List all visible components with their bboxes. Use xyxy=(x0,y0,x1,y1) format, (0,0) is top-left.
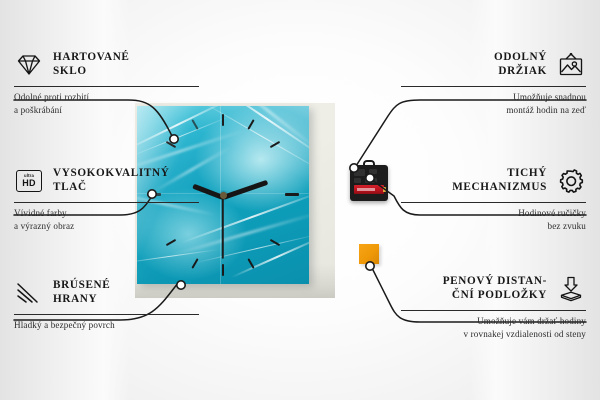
clock-tick xyxy=(285,193,299,196)
clock-tick xyxy=(247,119,254,130)
feature-desc-line1: Umožňuje snadnou xyxy=(513,92,586,102)
feature-desc-line2: v rovnakej vzdialenosti od steny xyxy=(464,329,587,339)
mechanism-detail xyxy=(365,178,377,183)
feature-divider xyxy=(14,86,199,87)
feature-silent-mechanism[interactable]: TICHÝ MECHANIZMUS Hodinové ručičky bez z… xyxy=(401,164,586,232)
feature-description: Hodinové ručičky bez zvuku xyxy=(401,207,586,232)
clock-tick xyxy=(191,258,198,269)
feather-stroke xyxy=(231,236,309,279)
feature-title-line1: TICHÝ xyxy=(507,167,547,179)
diamond-icon xyxy=(14,51,44,79)
battery-positive-terminal xyxy=(383,187,386,192)
clock-tick xyxy=(222,264,224,276)
mechanism-detail xyxy=(354,178,361,183)
gear-icon xyxy=(556,167,586,195)
feature-title-line2: ČNÍ PODLOŽKY xyxy=(452,289,547,301)
feature-divider xyxy=(401,310,586,311)
feature-title: TICHÝ MECHANIZMUS xyxy=(452,167,547,194)
feature-divider xyxy=(14,202,199,203)
feature-desc-line1: Hodinové ručičky xyxy=(518,208,586,218)
battery-label-stripe xyxy=(357,188,375,191)
clock-minute-hand xyxy=(222,180,268,200)
feature-description: Odolné proti rozbití a poškrábání xyxy=(14,91,199,116)
diagonal-lines-icon xyxy=(14,279,44,307)
feature-title-line2: MECHANIZMUS xyxy=(452,181,547,193)
feature-title-line2: TLAČ xyxy=(53,181,87,193)
feature-desc-line1: Vívidné farby xyxy=(14,208,67,218)
feature-description: Hladký a bezpečný povrch xyxy=(14,319,199,332)
feature-title-line2: DRŽIAK xyxy=(498,65,547,77)
clock-tick xyxy=(166,141,177,148)
feature-title-line1: HARTOVANÉ xyxy=(53,51,130,63)
feature-divider xyxy=(401,202,586,203)
feature-description: Umožňuje snadnou montáž hodin na zeď xyxy=(401,91,586,116)
feature-polished-edges[interactable]: BRÚSENÉ HRANY Hladký a bezpečný povrch xyxy=(14,276,199,332)
feature-title-line2: HRANY xyxy=(53,293,97,305)
clock-tick xyxy=(222,114,224,126)
feature-desc-line2: a poškrábání xyxy=(14,105,62,115)
feature-title-line1: VYSOKOKVALITNÝ xyxy=(53,167,169,179)
clock-hand-cap xyxy=(220,192,227,199)
feature-desc-line1: Odolné proti rozbití xyxy=(14,92,89,102)
feature-description: Umožňuje vám držať hodiny v rovnakej vzd… xyxy=(401,315,586,340)
feature-divider xyxy=(401,86,586,87)
mechanism-detail xyxy=(369,169,377,174)
feature-title: HARTOVANÉ SKLO xyxy=(53,51,130,78)
feature-title-line1: PENOVÝ DISTAN- xyxy=(443,275,547,287)
feather-stroke xyxy=(221,106,309,150)
feature-title: PENOVÝ DISTAN- ČNÍ PODLOŽKY xyxy=(443,275,547,302)
feature-desc-line1: Umožňuje vám držať hodiny xyxy=(477,316,586,326)
feature-title: BRÚSENÉ HRANY xyxy=(53,279,110,306)
feature-divider xyxy=(14,314,199,315)
battery xyxy=(354,185,384,194)
feature-desc-line2: a výrazný obraz xyxy=(14,221,74,231)
feature-title: VYSOKOKVALITNÝ TLAČ xyxy=(53,167,169,194)
clock-mechanism xyxy=(350,165,388,201)
clock-tick xyxy=(191,119,198,130)
feature-desc-line1: Hladký a bezpečný povrch xyxy=(14,320,115,330)
feature-foam-spacers[interactable]: PENOVÝ DISTAN- ČNÍ PODLOŽKY Umožňuje vám… xyxy=(401,272,586,340)
foam-spacer-pad xyxy=(359,244,379,264)
press-down-pad-icon xyxy=(556,275,586,303)
feature-desc-line2: bez zvuku xyxy=(548,221,586,231)
feature-durable-hanger[interactable]: ODOLNÝ DRŽIAK Umožňuje snadnou montáž ho… xyxy=(401,48,586,116)
feature-header: TICHÝ MECHANIZMUS xyxy=(401,164,586,198)
feature-header: ODOLNÝ DRŽIAK xyxy=(401,48,586,82)
feature-header: PENOVÝ DISTAN- ČNÍ PODLOŽKY xyxy=(401,272,586,306)
feature-header: BRÚSENÉ HRANY xyxy=(14,276,199,310)
feature-title-line2: SKLO xyxy=(53,65,87,77)
feature-title-line1: BRÚSENÉ xyxy=(53,279,110,291)
feature-description: Vívidné farby a výrazný obraz xyxy=(14,207,199,232)
ultra-hd-icon-main-text: HD xyxy=(22,179,35,188)
clock-second-hand xyxy=(222,197,224,259)
feature-desc-line2: montáž hodin na zeď xyxy=(506,105,586,115)
feature-tempered-glass[interactable]: HARTOVANÉ SKLO Odolné proti rozbití a po… xyxy=(14,48,199,116)
clock-tick xyxy=(166,239,177,246)
feature-header: ultra HD VYSOKOKVALITNÝ TLAČ xyxy=(14,164,199,198)
feature-high-quality-print[interactable]: ultra HD VYSOKOKVALITNÝ TLAČ Vívidné far… xyxy=(14,164,199,232)
hanging-picture-icon xyxy=(556,51,586,79)
feature-header: HARTOVANÉ SKLO xyxy=(14,48,199,82)
feature-title-line1: ODOLNÝ xyxy=(494,51,547,63)
ultra-hd-icon: ultra HD xyxy=(14,167,44,195)
feature-title: ODOLNÝ DRŽIAK xyxy=(494,51,547,78)
mechanism-detail xyxy=(354,169,365,176)
